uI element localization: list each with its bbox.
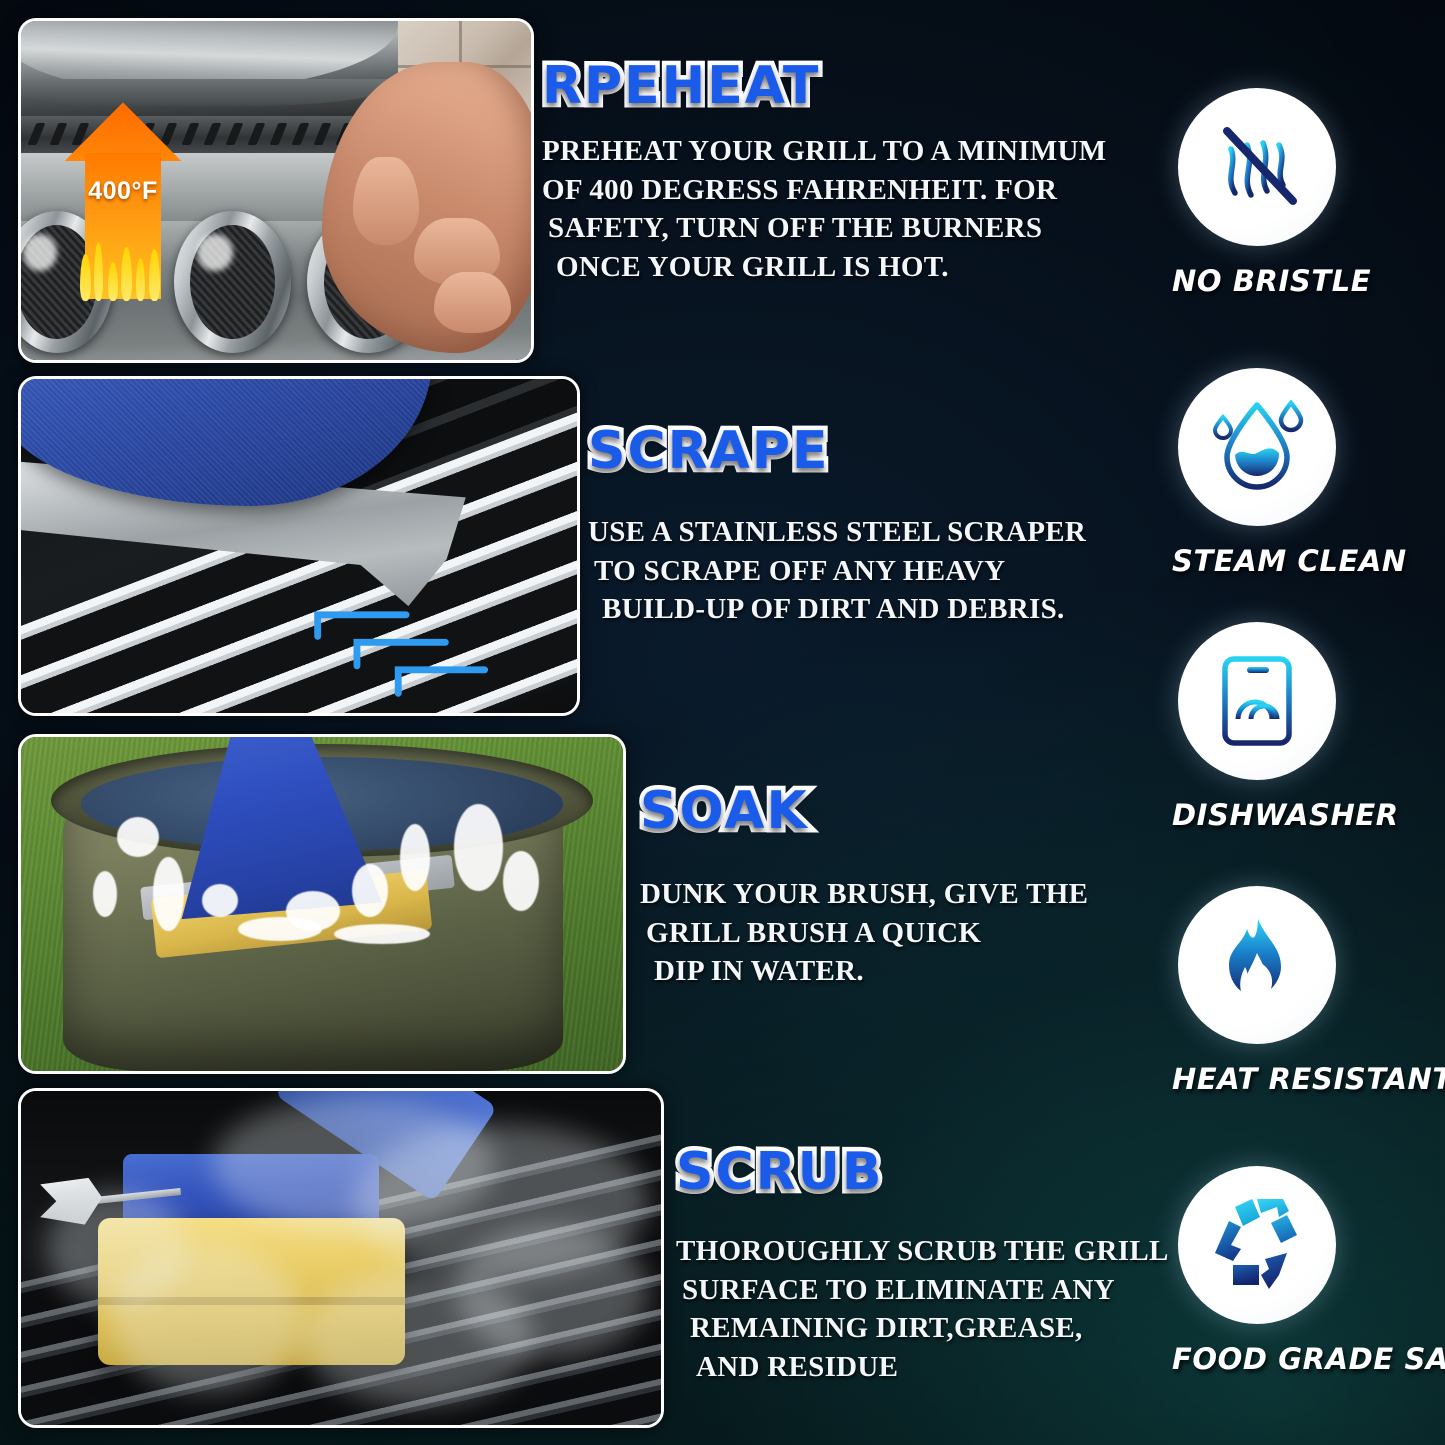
step-body: USE A STAINLESS STEEL SCRAPER TO SCRAPE …	[588, 513, 1086, 629]
grill-knob	[174, 211, 291, 353]
feature-label: FOOD GRADE SAFE	[1172, 1342, 1342, 1376]
step-title: SCRUB	[676, 1146, 1169, 1198]
up-arrow-flame-icon	[64, 102, 181, 161]
flame-decoration	[78, 242, 167, 301]
feature-icon-circle	[1178, 1166, 1336, 1324]
scrape-direction-arrows	[21, 379, 577, 713]
photo-panel-preheat: 400°F	[18, 18, 534, 363]
feature-icon-circle	[1178, 622, 1336, 780]
feature-icon-circle	[1178, 88, 1336, 246]
step-soak: SOAK DUNK YOUR BRUSH, GIVE THE GRILL BRU…	[640, 785, 1088, 991]
recycle-icon	[1203, 1191, 1311, 1299]
step-body: THOROUGHLY SCRUB THE GRILL SURFACE TO EL…	[676, 1232, 1169, 1386]
step-scrape: SCRAPE USE A STAINLESS STEEL SCRAPER TO …	[588, 425, 1086, 629]
photo-panel-soak	[18, 734, 626, 1074]
feature-food-grade-safe: FOOD GRADE SAFE	[1172, 1166, 1342, 1376]
flame-icon	[1205, 913, 1309, 1017]
step-body: PREHEAT YOUR GRILL TO A MINIMUM OF 400 D…	[542, 132, 1106, 286]
step-title: RPEHEAT	[542, 60, 1106, 112]
feature-heat-resistant: HEAT RESISTANT	[1172, 886, 1342, 1096]
photo-panel-scrub	[18, 1088, 664, 1428]
temperature-badge: 400°F	[64, 102, 181, 299]
step-scrub: SCRUB THOROUGHLY SCRUB THE GRILL SURFACE…	[676, 1146, 1169, 1386]
water-droplet-icon	[1205, 395, 1309, 499]
dishwasher-icon	[1205, 649, 1309, 753]
feature-dishwasher: DISHWASHER	[1172, 622, 1342, 832]
step-preheat: RPEHEAT PREHEAT YOUR GRILL TO A MINIMUM …	[542, 60, 1106, 286]
feature-icon-circle	[1178, 368, 1336, 526]
photo-panel-scrape	[18, 376, 580, 716]
step-body: DUNK YOUR BRUSH, GIVE THE GRILL BRUSH A …	[640, 875, 1088, 991]
feature-icon-circle	[1178, 886, 1336, 1044]
feature-no-bristle: NO BRISTLE	[1172, 88, 1342, 298]
step-title: SOAK	[640, 785, 1088, 837]
temperature-value: 400°F	[64, 177, 181, 206]
feature-label: DISHWASHER	[1172, 798, 1342, 832]
feature-label: HEAT RESISTANT	[1172, 1062, 1342, 1096]
no-bristle-icon	[1205, 115, 1309, 219]
feature-label: STEAM CLEAN	[1172, 544, 1342, 578]
step-title: SCRAPE	[588, 425, 1086, 477]
feature-steam-clean: STEAM CLEAN	[1172, 368, 1342, 578]
feature-label: NO BRISTLE	[1172, 264, 1342, 298]
